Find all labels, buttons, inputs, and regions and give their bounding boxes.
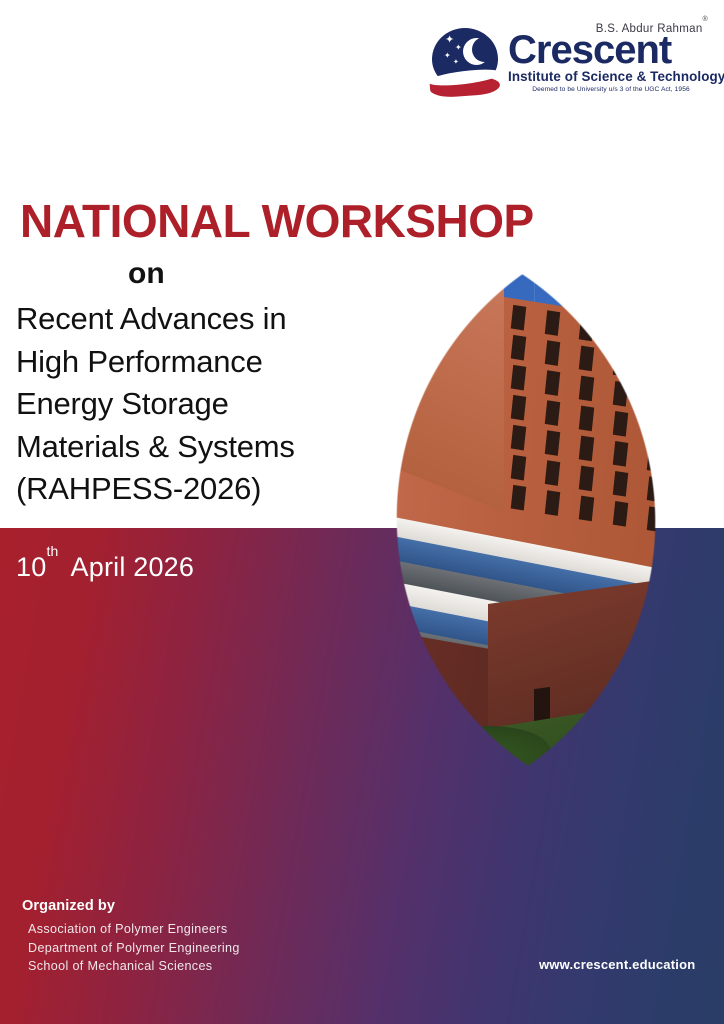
facade-window [579, 466, 595, 492]
star-icon-4: ✦ [453, 58, 459, 67]
facade-window [545, 310, 561, 336]
star-icon-1: ✦ [445, 36, 454, 45]
brick-window-4 [640, 697, 654, 757]
facade-window [545, 400, 561, 426]
photo-inner [348, 252, 724, 840]
logo-accreditation-text: Deemed to be University u/s 3 of the UGC… [508, 86, 714, 93]
tree [362, 704, 426, 794]
facade-window [579, 406, 595, 432]
facade-window [681, 422, 697, 448]
logo-institute-text: Institute of Science & Technology [508, 69, 714, 84]
facade-window [681, 452, 697, 478]
logo-brand-text: Crescent [508, 29, 714, 71]
title-connector: on [128, 256, 165, 292]
subtitle-line-3: Energy Storage [16, 383, 295, 426]
facade-window [579, 436, 595, 462]
facade-window [681, 332, 697, 358]
facade-window [511, 335, 527, 361]
poster-canvas: ✦ ✦ ✦ ✦ ✦ B.S. Abdur Rahman® Crescent In… [0, 0, 724, 1024]
facade-window [579, 376, 595, 402]
facade-window [579, 346, 595, 372]
facade-window [647, 446, 663, 472]
facade-window [647, 356, 663, 382]
organizer-item-1: Association of Polymer Engineers [28, 920, 240, 939]
logo-university-name: B.S. Abdur Rahman [596, 23, 703, 35]
campus-building-photo [348, 252, 724, 840]
event-date-month-year: April 2026 [71, 552, 195, 582]
facade-window [613, 441, 629, 467]
facade-window [613, 381, 629, 407]
facade-window [579, 316, 595, 342]
facade-window [545, 490, 561, 516]
facade-window [545, 370, 561, 396]
institution-logo: ✦ ✦ ✦ ✦ ✦ B.S. Abdur Rahman® Crescent In… [424, 18, 714, 110]
workshop-subtitle: Recent Advances in High Performance Ener… [16, 298, 295, 511]
facade-window [511, 305, 527, 331]
facade-window [647, 506, 663, 532]
event-date: 10thApril 2026 [16, 552, 194, 583]
building-upper-window-grid [508, 302, 718, 545]
logo-red-swoosh [429, 76, 500, 99]
facade-window [579, 496, 595, 522]
subtitle-line-1: Recent Advances in [16, 298, 295, 341]
facade-window [647, 386, 663, 412]
facade-window [647, 326, 663, 352]
facade-window [647, 416, 663, 442]
star-icon-3: ✦ [444, 51, 451, 60]
facade-window [545, 430, 561, 456]
crescent-moon-icon [463, 38, 490, 65]
event-date-day: 10 [16, 552, 46, 582]
page-title: NATIONAL WORKSHOP [20, 194, 534, 248]
registered-mark-icon: ® [703, 16, 708, 23]
organizer-item-3: School of Mechanical Sciences [28, 957, 240, 976]
logo-wordmark: B.S. Abdur Rahman® Crescent Institute of… [508, 18, 714, 93]
logo-top-text: B.S. Abdur Rahman® [508, 22, 714, 35]
website-url[interactable]: www.crescent.education [539, 957, 695, 972]
facade-window [511, 485, 527, 511]
subtitle-line-4: Materials & Systems [16, 426, 295, 469]
star-icon-2: ✦ [455, 43, 462, 52]
facade-window [613, 411, 629, 437]
facade-window [681, 362, 697, 388]
facade-window [545, 460, 561, 486]
facade-window [545, 340, 561, 366]
event-date-ordinal: th [46, 543, 58, 559]
facade-window [511, 395, 527, 421]
facade-window [511, 365, 527, 391]
organizer-item-2: Department of Polymer Engineering [28, 939, 240, 958]
facade-window [613, 471, 629, 497]
subtitle-line-2: High Performance [16, 341, 295, 384]
facade-window [681, 392, 697, 418]
facade-window [511, 425, 527, 451]
organizer-list: Association of Polymer Engineers Departm… [28, 920, 240, 976]
organized-by-heading: Organized by [22, 898, 115, 914]
facade-window [613, 351, 629, 377]
facade-window [647, 476, 663, 502]
crescent-moon-and-stars-icon: ✦ ✦ ✦ ✦ ✦ [428, 28, 506, 100]
brick-window-6 [644, 783, 657, 829]
facade-window [613, 321, 629, 347]
facade-window [681, 482, 697, 508]
subtitle-line-5: (RAHPESS-2026) [16, 468, 295, 511]
facade-window [511, 455, 527, 481]
facade-window [681, 512, 697, 538]
facade-window [613, 501, 629, 527]
